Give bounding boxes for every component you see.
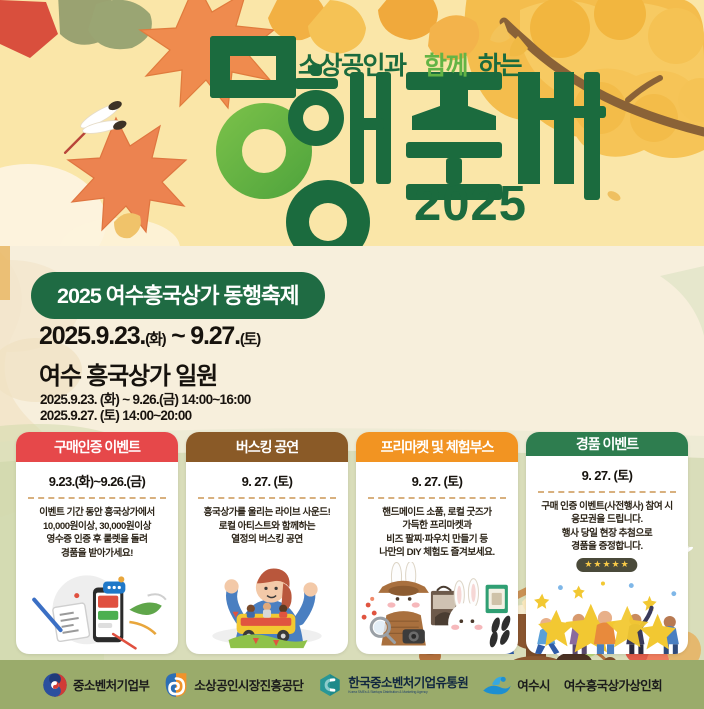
- card-body-line: 나만의 DIY 체험도 즐겨보세요.: [363, 546, 511, 560]
- detective-rabbit: [371, 562, 429, 645]
- yeosu-wave-icon: [482, 673, 512, 697]
- venue-line: 여수 흥국상가 일원: [39, 356, 217, 391]
- card-header: 경품 이벤트: [526, 432, 688, 456]
- sponsor-logo-kosme-dist: 한국중소벤처기업유통원 Korea SMEs & Startups Distri…: [317, 672, 468, 698]
- hero-section: 소상공인과 함께 하는 2025: [0, 0, 704, 248]
- card-header: 구매인증 이벤트: [16, 432, 178, 462]
- card-body-line: 경품을 증정합니다.: [533, 540, 681, 554]
- taegeuk-icon: [42, 672, 68, 698]
- logo-year: 2025: [414, 177, 527, 231]
- card-body-line: 10,000원이상, 30,000원이상: [23, 520, 171, 534]
- sponsor-label: 여수흥국상가상인회: [564, 675, 662, 694]
- card-divider: [538, 491, 676, 493]
- sponsor-label: 여수시: [517, 675, 550, 694]
- card-body-line: 열정의 버스킹 공연: [193, 533, 341, 547]
- logo-char-je: [518, 72, 606, 200]
- card-body-line: 흥국상가를 울리는 라이브 사운드!: [193, 506, 341, 520]
- busking-bus-icon: [186, 549, 348, 654]
- card-body: 흥국상가를 울리는 라이브 사운드! 로컬 아티스트와 함께하는 열정의 버스킹…: [186, 506, 348, 547]
- card-divider: [198, 497, 336, 499]
- sponsor-logo-yeosu-city: 여수시: [482, 673, 550, 697]
- kosme-hex-icon: [317, 672, 343, 698]
- smartphone-receipt-icon: [16, 562, 178, 654]
- event-card-busking-performance[interactable]: 버스킹 공연 9. 27. (토) 흥국상가를 울리는 라이브 사운드! 로컬 …: [186, 432, 348, 654]
- card-body-line: 이벤트 기간 동안 흥국상가에서: [23, 506, 171, 520]
- poster-root: 소상공인과 함께 하는 2025: [0, 0, 704, 709]
- card-body-line: 경품을 받아가세요!: [23, 547, 171, 561]
- sponsor-logo-mss: 중소벤처기업부: [42, 672, 149, 698]
- card-date: 9. 27. (토): [526, 465, 688, 484]
- card-body: 이벤트 기간 동안 흥국상가에서 10,000원이상, 30,000원이상 영수…: [16, 506, 178, 560]
- rabbit-detective-icon: [356, 562, 518, 654]
- card-body-line: 핸드메이드 소품, 로컬 굿즈가: [363, 506, 511, 520]
- sponsor-label: 중소벤처기업부: [73, 675, 149, 694]
- card-body-line: 행사 당일 현장 추첨으로: [533, 527, 681, 541]
- sponsor-logo-semas: 소상공인시장진흥공단: [163, 672, 303, 698]
- card-illustration-area: ★★★★★: [526, 556, 688, 654]
- card-divider: [368, 497, 506, 499]
- event-card-flea-market-booth[interactable]: 프리마켓 및 체험부스 9. 27. (토) 핸드메이드 소품, 로컬 굿즈가 …: [356, 432, 518, 654]
- person-1: [534, 610, 575, 654]
- plain-rabbit: [448, 579, 484, 644]
- date-range-end: 9.27.: [190, 322, 240, 350]
- people-holding-stars-icon: [526, 570, 688, 654]
- tagline-part-1: 소상공인과: [298, 52, 407, 80]
- event-card-list: 구매인증 이벤트 9.23.(화)~9.26.(금) 이벤트 기간 동안 흥국상…: [0, 432, 704, 654]
- hero-background-art: 소상공인과 함께 하는 2025: [0, 0, 704, 248]
- sponsor-label: 한국중소벤처기업유통원: [348, 676, 468, 690]
- date-range-start: 2025.9.23.: [39, 322, 145, 350]
- card-body-line: 구매 인증 이벤트(사전행사) 참여 시: [533, 500, 681, 514]
- tagline-part-3: 하는: [478, 52, 523, 80]
- card-date: 9. 27. (토): [356, 471, 518, 490]
- card-date: 9.23.(화)~9.26.(금): [16, 471, 178, 490]
- card-body-line: 응모권을 드립니다.: [533, 513, 681, 527]
- card-header: 프리마켓 및 체험부스: [356, 432, 518, 462]
- card-date: 9. 27. (토): [186, 471, 348, 490]
- date-range-end-dow: (토): [240, 331, 260, 348]
- card-illustration-area: [16, 562, 178, 654]
- date-range-separator: ~: [165, 322, 190, 350]
- event-card-prize-event[interactable]: 경품 이벤트 9. 27. (토) 구매 인증 이벤트(사전행사) 참여 시 응…: [526, 432, 688, 654]
- sponsor-logo-merchants: 여수흥국상가상인회: [564, 675, 662, 694]
- page-title-pill: 2025 여수흥국상가 동행축제: [31, 272, 325, 319]
- date-range-line: 2025.9.23.(화) ~ 9.27.(토): [39, 322, 260, 351]
- card-body-line: 로컬 아티스트와 함께하는: [193, 520, 341, 534]
- tagline-part-2: 함께: [424, 52, 467, 80]
- sponsor-sublabel: Korea SMEs & Startups Distribution & Mar…: [348, 691, 468, 695]
- semas-swirl-icon: [163, 672, 189, 698]
- card-body: 핸드메이드 소품, 로컬 굿즈가 가득한 프리마켓과 비즈 팔찌·파우치 만들기…: [356, 506, 518, 560]
- card-header: 버스킹 공연: [186, 432, 348, 462]
- card-body: 구매 인증 이벤트(사전행사) 참여 시 응모권을 드립니다. 행사 당일 현장…: [526, 500, 688, 554]
- card-illustration-area: [356, 562, 518, 654]
- sponsor-label: 소상공인시장진흥공단: [194, 675, 303, 694]
- card-divider: [28, 497, 166, 499]
- event-card-purchase-verification[interactable]: 구매인증 이벤트 9.23.(화)~9.26.(금) 이벤트 기간 동안 흥국상…: [16, 432, 178, 654]
- card-body-line: 가득한 프리마켓과: [363, 519, 511, 533]
- card-body-line: 비즈 팔찌·파우치 만들기 등: [363, 533, 511, 547]
- card-illustration-area: [186, 549, 348, 654]
- sponsor-footer: 중소벤처기업부 소상공인시장진흥공단 한국중소벤처기업유통원 Korea SME…: [0, 660, 704, 709]
- date-range-start-dow: (화): [145, 331, 165, 348]
- star-rating-badge: ★★★★★: [576, 558, 637, 572]
- time-line-2: 2025.9.27. (토) 14:00~20:00: [40, 404, 191, 424]
- card-body-line: 영수증 인증 후 룰렛을 돌려: [23, 533, 171, 547]
